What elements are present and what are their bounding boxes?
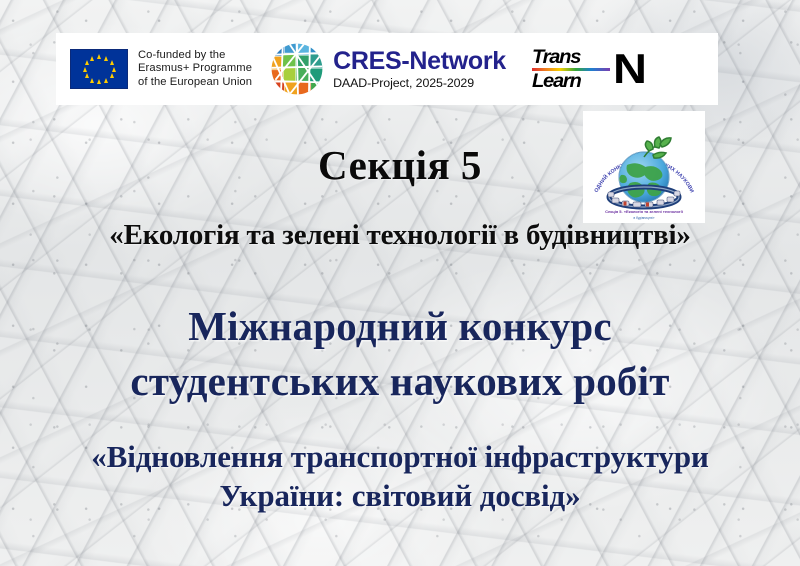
translearn-letter-n: N	[613, 48, 647, 90]
eu-flag-icon	[70, 49, 128, 89]
slide-canvas: Co-funded by the Erasmus+ Programme of t…	[0, 0, 800, 566]
translearn-word-bottom: Learn	[532, 72, 615, 91]
eu-cofunding-text: Co-funded by the Erasmus+ Programme of t…	[138, 49, 252, 89]
translearn-logo: Trans Learn N	[532, 48, 643, 91]
translearn-logo-icon: Trans Learn	[532, 48, 610, 91]
contest-heading-line-2: студентських наукових робіт	[0, 357, 800, 405]
logo-banner: Co-funded by the Erasmus+ Programme of t…	[56, 33, 718, 105]
section-subtitle: «Екологія та зелені технології в будівни…	[0, 219, 800, 252]
cres-network-logo: CRES-Network DAAD-Project, 2025-2029	[270, 42, 506, 96]
contest-theme-line-1: «Відновлення транспортної інфраструктури	[0, 439, 800, 475]
translearn-word-top: Trans	[532, 48, 615, 67]
cres-network-title: CRES-Network	[333, 48, 506, 75]
section-title: Секція 5	[0, 141, 800, 189]
cres-globe-icon	[270, 42, 324, 96]
eu-cofunding-logo: Co-funded by the Erasmus+ Programme of t…	[70, 49, 252, 89]
contest-heading-line-1: Міжнародний конкурс	[0, 302, 800, 350]
cres-network-subtitle: DAAD-Project, 2025-2029	[333, 76, 506, 91]
contest-theme-line-2: України: світовий досвід»	[0, 478, 800, 514]
section-emblem-caption: Секція 5. «Екологія та зелені технології	[583, 209, 705, 214]
